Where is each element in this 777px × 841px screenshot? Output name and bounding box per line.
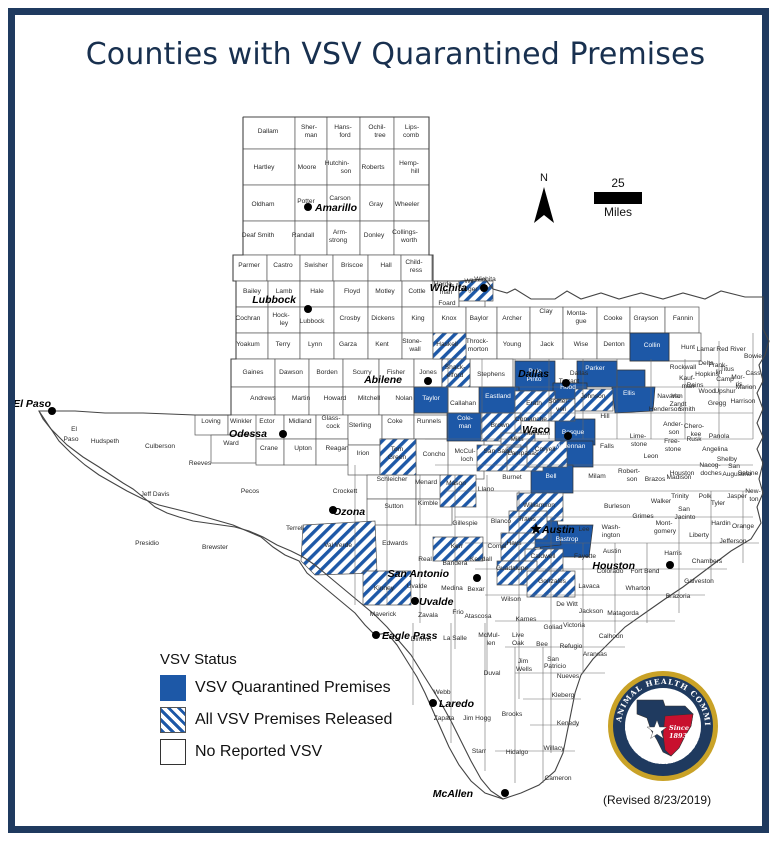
county-label: Gray [369, 201, 384, 208]
county-label: San [678, 506, 690, 513]
county-label: ress [410, 267, 423, 274]
county-label: Ochil- [368, 124, 385, 131]
county-label: Chambers [692, 558, 723, 565]
scale-unit: Miles [589, 206, 647, 219]
city-marker: Houston [592, 560, 674, 572]
county-label: ford [339, 132, 351, 139]
county-label: Free- [664, 438, 680, 445]
county-label: Baylor [470, 315, 489, 322]
tahc-seal-logo: Since 1893 TEXAS ANIMAL HEALTH COMMISSIO… [607, 670, 719, 782]
county-label: Kinney [374, 585, 395, 592]
county-label: Frank- [708, 362, 727, 369]
county-label: gomery [654, 528, 677, 535]
county-label: Lavaca [578, 583, 600, 590]
county-label: Carson [329, 195, 351, 202]
city-dot-icon [666, 561, 674, 569]
county-label: vell [556, 406, 566, 413]
county-label: Grimes [632, 513, 654, 520]
county-label: Winkler [230, 418, 253, 425]
county-label: Callahan [450, 400, 476, 407]
county-label: Starr [472, 748, 487, 755]
county-label: Red River [716, 346, 746, 353]
county-label: Robert- [618, 468, 640, 475]
county-label: Cottle [408, 288, 426, 295]
county-label: Wells [516, 666, 533, 673]
county-label: Glass- [321, 415, 340, 422]
county-label: Refugio [560, 643, 583, 650]
county-label: Houston [670, 470, 695, 477]
county-label: Hall [380, 262, 392, 269]
county-label: Parmer [238, 262, 260, 269]
county-label: Angelina [702, 446, 728, 453]
county-label: Presidio [135, 540, 159, 547]
county-label: cock [326, 423, 340, 430]
county-label: Jefferson [719, 538, 746, 545]
county-label: Shack- [445, 364, 466, 371]
county-label: Duval [484, 670, 501, 677]
county-label: Kent [375, 341, 389, 348]
county-label: Cooke [603, 315, 622, 322]
county-label: Brown [491, 422, 510, 429]
county-label: Hock- [272, 312, 289, 319]
county-label: Upton [294, 445, 312, 452]
county-label: Zandt [670, 401, 687, 408]
county-label: Tyler [711, 500, 726, 507]
legend-item-none: No Reported VSV [160, 739, 410, 765]
county-label: strong [329, 237, 348, 244]
county-label: Loving [201, 418, 221, 425]
county-label: Reeves [189, 460, 212, 467]
county-label: Denton [603, 341, 625, 348]
county-label: Eastland [485, 393, 511, 400]
county-label: Lamar [697, 346, 716, 353]
county-label: Andrews [250, 395, 276, 402]
county-label: Irion [357, 450, 370, 457]
county-label: Stone- [402, 338, 421, 345]
county-label: Harrison [731, 398, 756, 405]
county-label: stone [665, 446, 681, 453]
county-label: Kauf- [679, 375, 695, 382]
county-label: ris [736, 381, 744, 388]
county-label: Runnels [417, 418, 442, 425]
county-label: Hunt [681, 344, 695, 351]
county-label: Chero- [684, 423, 704, 430]
county-label: Garza [339, 341, 357, 348]
city-label: Wichita [430, 282, 467, 294]
county-label: Leon [644, 453, 659, 460]
county-label: McMul- [478, 632, 500, 639]
legend-swatch-none [160, 739, 186, 765]
county-label: tree [374, 132, 386, 139]
county-label: Orange [732, 523, 754, 530]
county-label: len [487, 640, 496, 647]
county-label: Oldham [251, 201, 275, 208]
city-label: Dallas [518, 368, 549, 380]
city-dot-icon [279, 430, 287, 438]
county-label: Webb [433, 689, 450, 696]
county-label: Erath [526, 400, 542, 407]
city-dot-icon [473, 574, 481, 582]
city-label: Laredo [439, 698, 475, 710]
county-label: Borden [316, 369, 338, 376]
county-label: Collings- [392, 229, 418, 236]
county-label: Briscoe [341, 262, 363, 269]
county-label: son [341, 168, 352, 175]
county-label: Dallam [258, 128, 279, 135]
county-label: Mills [510, 436, 524, 443]
county-label: Burleson [604, 503, 630, 510]
county-label: Nacog- [699, 462, 720, 469]
legend-title: VSV Status [160, 651, 410, 668]
county-label: Mitchell [358, 395, 381, 402]
county-label: Castro [273, 262, 293, 269]
county-label: son [627, 476, 638, 483]
county-label: Hudspeth [91, 438, 120, 445]
city-dot-icon [480, 284, 488, 292]
county-label: man [305, 132, 318, 139]
county-label: Randall [292, 232, 315, 239]
city-dot-icon [304, 203, 312, 211]
county-label: ley [280, 320, 289, 327]
county-label: Lubbock [300, 318, 326, 325]
county-label: Haskell [436, 341, 458, 348]
county-label: Trinity [671, 493, 689, 500]
county-label: Brazoria [666, 593, 691, 600]
county-label: Real [418, 556, 432, 563]
city-label: Amarillo [314, 202, 358, 214]
county-label: Willacy [544, 745, 566, 752]
county-label: Floyd [344, 288, 360, 295]
legend-label-quarantined: VSV Quarantined Premises [195, 679, 391, 697]
county-label: La Salle [443, 635, 467, 642]
county-label: Comal [487, 543, 507, 550]
county-label: Foard [438, 300, 456, 307]
legend-swatch-quarantined [160, 675, 186, 701]
city-label: Lubbock [252, 294, 297, 306]
county-label: Zapata [434, 715, 455, 722]
county-label: Cameron [544, 775, 571, 782]
county-label: Dallas [570, 370, 589, 377]
city-dot-icon [501, 789, 509, 797]
county-label: Schleicher [377, 476, 409, 483]
county-label: Zavala [418, 612, 438, 619]
scale-bar-graphic [594, 192, 642, 204]
county-label: comb [403, 132, 419, 139]
county-label: Medina [441, 585, 463, 592]
county-label: Bexar [467, 586, 485, 593]
scale-value: 25 [589, 177, 647, 190]
county-label: Bee [536, 641, 548, 648]
county-label: Wichita [474, 276, 496, 283]
county-label: Walker [651, 498, 672, 505]
county-label: Atascosa [464, 613, 491, 620]
county-label: Brooks [502, 711, 523, 718]
legend-item-quarantined: VSV Quarantined Premises [160, 675, 410, 701]
county-label: Wheeler [395, 201, 420, 208]
county-label: San [547, 656, 559, 663]
county-label: Bell [546, 473, 558, 480]
county-label: worth [400, 237, 417, 244]
county-label: son [669, 429, 680, 436]
county-label: Terrell [286, 525, 304, 532]
county-label: Johnson [581, 393, 606, 400]
county-label: Knox [441, 315, 457, 322]
city-label: San Antonio [388, 568, 450, 580]
county-label: ington [602, 532, 620, 539]
county-label: Jackson [579, 608, 604, 615]
county-label: Donley [364, 232, 385, 239]
county-label: Menard [415, 479, 438, 486]
city-marker: San Antonio [388, 568, 481, 582]
county-label: Wash- [602, 524, 621, 531]
city-label: Houston [592, 560, 635, 572]
county-label: Brewster [202, 544, 229, 551]
county-label: Moore [298, 164, 317, 171]
city-dot-icon [304, 305, 312, 313]
county-label: Milam [588, 473, 606, 480]
county-label: Llano [478, 486, 494, 493]
legend-label-released: All VSV Premises Released [195, 711, 392, 729]
county-label: Parker [585, 365, 605, 372]
legend-label-none: No Reported VSV [195, 743, 322, 761]
county-label: gue [575, 318, 586, 325]
county-label: Val Verde [324, 542, 352, 549]
county-label: Dawson [279, 369, 303, 376]
county-label: Sher- [301, 124, 317, 131]
city-marker: Uvalde [411, 596, 454, 608]
county-label: Green [388, 454, 407, 461]
county-label: lin [716, 369, 723, 376]
county-label: Jeff Davis [141, 491, 171, 498]
city-dot-icon [564, 432, 572, 440]
county-label: Midland [288, 418, 311, 425]
county-label: Tom [391, 446, 404, 453]
city-label: Waco [522, 424, 550, 436]
county-label: King [411, 315, 425, 322]
city-dot-icon [562, 379, 570, 387]
county-label: Galveston [684, 578, 714, 585]
city-marker: McAllen [433, 788, 509, 800]
county-label: Gonzales [538, 578, 567, 585]
county-label: Taylor [422, 395, 440, 402]
legend-item-released: All VSV Premises Released [160, 707, 410, 733]
county-label: Howard [324, 395, 347, 402]
city-label: Abilene [363, 374, 402, 386]
city-dot-icon [411, 597, 419, 605]
county-label: Hardin [711, 520, 731, 527]
city-label: Austin [541, 524, 575, 536]
county-label: Rockwall [670, 364, 697, 371]
county-label: Jacinto [675, 514, 696, 521]
county-label: Child- [405, 259, 422, 266]
county-label: doches [700, 470, 722, 477]
county-label: Arm- [333, 229, 347, 236]
county-label: ton [749, 496, 758, 503]
county-label: Yoakum [236, 341, 260, 348]
county-label: Austin [603, 548, 622, 555]
county-label: Wood [698, 388, 715, 395]
county-label: wall [408, 346, 421, 353]
county-label: Terry [276, 341, 291, 348]
county-label: loch [461, 456, 473, 463]
city-dot-icon [372, 631, 380, 639]
county-label: Burnet [502, 474, 522, 481]
county-label: Ander- [663, 421, 683, 428]
county-label: Mont- [656, 520, 673, 527]
city-label: El Paso [15, 398, 52, 410]
county-label: Uvalde [407, 583, 428, 590]
county-label: Hemp- [399, 160, 419, 167]
county-label: Fayette [574, 553, 596, 560]
city-label: McAllen [433, 788, 473, 800]
scale-bar: 25 Miles [589, 177, 647, 219]
county-label: Young [503, 341, 522, 348]
county-label: McLennan [555, 443, 586, 450]
county-label: Crosby [340, 315, 362, 322]
county-label: Hale [310, 288, 324, 295]
county-label: Martin [292, 395, 311, 402]
county-label: Throck- [466, 338, 488, 345]
county-label: Grayson [634, 315, 659, 322]
county-label: Guadalupe [496, 565, 529, 572]
county-label: Nolan [395, 395, 413, 402]
county-label: Hays [506, 540, 522, 547]
north-arrow-icon [533, 185, 555, 225]
revised-date: (Revised 8/23/2019) [603, 793, 711, 807]
county-label: Patricio [544, 663, 566, 670]
county-label: Maverick [370, 611, 397, 618]
county-label: Calhoun [599, 633, 624, 640]
county-label: Pecos [241, 488, 260, 495]
county-label: Concho [423, 451, 446, 458]
county-label: Williamson [523, 502, 555, 509]
city-label: Eagle Pass [382, 630, 438, 642]
county-label: Panola [709, 433, 730, 440]
county-label: Liberty [689, 532, 709, 539]
county-label: Motley [375, 288, 395, 295]
county-label: man [459, 423, 472, 430]
county-label: elford [447, 372, 464, 379]
county-label: stone [631, 441, 647, 448]
city-dot-icon [429, 699, 437, 707]
county-label: Clay [539, 308, 553, 315]
county-label: Cochran [236, 315, 261, 322]
county-label: Augustine [722, 471, 752, 478]
county-label: Crockett [333, 488, 358, 495]
city-marker: Eagle Pass [372, 630, 438, 642]
county-label: Collin [644, 342, 661, 349]
county-label: Mason [446, 480, 466, 487]
legend: VSV Status VSV Quarantined Premises All … [160, 651, 410, 771]
county-label: Bastrop [556, 536, 579, 543]
north-arrow-label: N [527, 173, 561, 184]
county-label: Stephens [477, 371, 506, 378]
county-label: New- [745, 488, 760, 495]
legend-swatch-released [160, 707, 186, 733]
city-marker: Laredo [429, 698, 475, 710]
county-label: Live [512, 632, 524, 639]
county-label: Mor- [731, 374, 745, 381]
county-label: Roberts [361, 164, 385, 171]
county-label: Hill [600, 413, 610, 420]
city-dot-icon [424, 377, 432, 385]
county-label: morton [468, 346, 489, 353]
county-label: Lee [578, 526, 589, 533]
seal-since-line2: 1893 [669, 732, 688, 740]
city-marker: Ozona [329, 506, 365, 518]
county-label: Hartley [254, 164, 276, 171]
county-label: Gillespie [452, 520, 478, 527]
county-label: Hutchin- [325, 160, 350, 167]
county-label: Crane [260, 445, 278, 452]
county-label: Jim Hogg [463, 715, 491, 722]
map-page: Counties with VSV Quarantined Premises [0, 0, 777, 841]
county-label: Hans- [334, 124, 352, 131]
county-label: kee [691, 431, 702, 438]
county-label: Ellis [623, 390, 636, 397]
city-label: Uvalde [419, 596, 454, 608]
county-label: Oak [512, 640, 525, 647]
county-label: Archer [502, 315, 522, 322]
county-label: Harris [664, 550, 682, 557]
county-label: Coke [387, 418, 403, 425]
county-label: Lime- [630, 433, 647, 440]
county-label: Lynn [308, 341, 322, 348]
county-label: Kerr [451, 543, 464, 550]
county-label: Falls [600, 443, 615, 450]
county-label: Wise [574, 341, 589, 348]
county-label: Wharton [626, 585, 651, 592]
county-label: Kleberg [552, 692, 575, 699]
county-label: Victoria [563, 622, 585, 629]
north-arrow: N [527, 173, 561, 225]
city-marker: El Paso [15, 398, 56, 415]
county-label: Lips- [405, 124, 419, 131]
county-label: Deaf Smith [242, 232, 275, 239]
county-label: Jack [540, 341, 554, 348]
county-label: Wilson [501, 596, 521, 603]
county-label: Cole- [457, 415, 473, 422]
county-label: Hidalgo [506, 749, 529, 756]
county-label: Bowie [744, 353, 762, 360]
county-label: El [71, 426, 77, 433]
county-label: Aransas [583, 651, 608, 658]
county-label: Jim [518, 658, 529, 665]
county-label: Swisher [304, 262, 328, 269]
city-label: Ozona [333, 506, 365, 518]
city-label: Odessa [229, 428, 267, 440]
county-label: Blanco [491, 518, 511, 525]
county-label: Cass [745, 370, 761, 377]
county-label: Sterling [349, 422, 372, 429]
county-label: Dickens [371, 315, 395, 322]
county-label: hill [411, 168, 420, 175]
county-label: Lampasas [508, 450, 539, 457]
county-label: Goliad [543, 624, 562, 631]
county-label: Culberson [145, 443, 175, 450]
county-label: Paso [63, 436, 78, 443]
county-label: Kenedy [557, 720, 580, 727]
page-title: Counties with VSV Quarantined Premises [15, 37, 776, 72]
county-label: San [728, 463, 740, 470]
county-label: Matagorda [607, 610, 639, 617]
county-label: Frio [452, 609, 464, 616]
county-label: Ward [223, 440, 239, 447]
county-label: Gaines [243, 369, 265, 376]
map-frame: Counties with VSV Quarantined Premises [8, 8, 769, 833]
county-label: Karnes [516, 616, 538, 623]
county-label: Somer- [548, 398, 570, 405]
